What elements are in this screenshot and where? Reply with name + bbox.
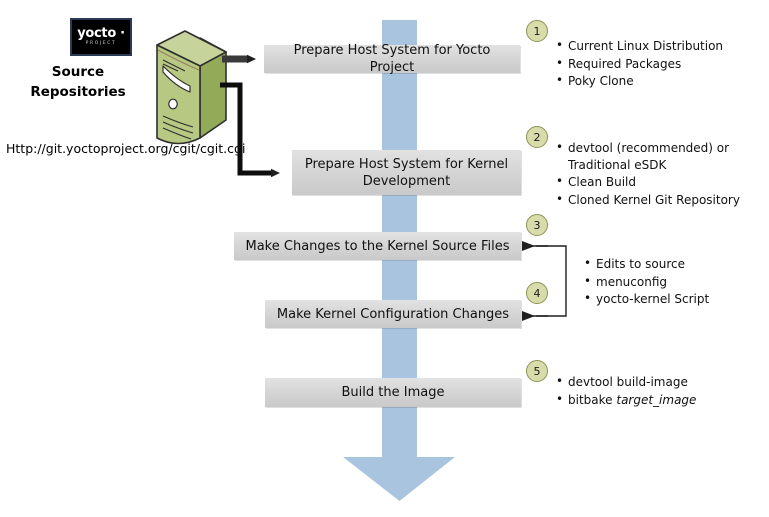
source-label-line2: Repositories — [18, 82, 138, 102]
command-name: bitbake — [568, 393, 616, 407]
list-item: menuconfig — [584, 274, 764, 291]
list-item: Clean Build — [556, 174, 766, 191]
process-box-make-source-changes[interactable]: Make Changes to the Kernel Source Files — [234, 232, 521, 260]
step-number-3: 3 — [526, 214, 548, 236]
step-1-bullets: Current Linux Distribution Required Pack… — [556, 38, 766, 91]
command-argument: target_image — [616, 393, 696, 407]
process-box-make-config-changes[interactable]: Make Kernel Configuration Changes — [265, 300, 521, 328]
step-2-bullets: devtool (recommended) or Traditional eSD… — [556, 140, 766, 209]
step-number-5: 5 — [526, 360, 548, 382]
process-box-prepare-host-yocto[interactable]: Prepare Host System for Yocto Project — [264, 45, 520, 73]
step-5-bullets: devtool build-image bitbake target_image — [556, 374, 766, 409]
logo-wordmark: yocto · — [77, 27, 125, 40]
list-item: yocto-kernel Script — [584, 291, 764, 308]
list-item: Poky Clone — [556, 73, 766, 90]
diagram-canvas: yocto · PROJECT Source Repositories Http… — [0, 0, 769, 517]
source-label-line1: Source — [18, 62, 138, 82]
list-item: Edits to source — [584, 256, 764, 273]
step-number-4: 4 — [526, 282, 548, 304]
logo-subtext: PROJECT — [86, 42, 117, 47]
list-item: bitbake target_image — [556, 392, 766, 409]
server-tower-icon — [133, 28, 229, 146]
list-item: devtool build-image — [556, 374, 766, 391]
list-item: Current Linux Distribution — [556, 38, 766, 55]
process-box-build-image[interactable]: Build the Image — [265, 378, 521, 407]
source-repositories-label: Source Repositories — [18, 62, 138, 102]
list-item: devtool (recommended) or Traditional eSD… — [556, 140, 766, 173]
list-item: Required Packages — [556, 56, 766, 73]
list-item: Cloned Kernel Git Repository — [556, 192, 766, 209]
steps-3-and-4-bullets: Edits to source menuconfig yocto-kernel … — [584, 256, 764, 309]
main-flow-arrow — [335, 20, 457, 502]
step-number-2: 2 — [526, 126, 548, 148]
step-number-1: 1 — [526, 20, 548, 42]
yocto-project-logo: yocto · PROJECT — [70, 18, 132, 56]
process-box-prepare-host-kernel[interactable]: Prepare Host System for Kernel Developme… — [292, 150, 521, 195]
